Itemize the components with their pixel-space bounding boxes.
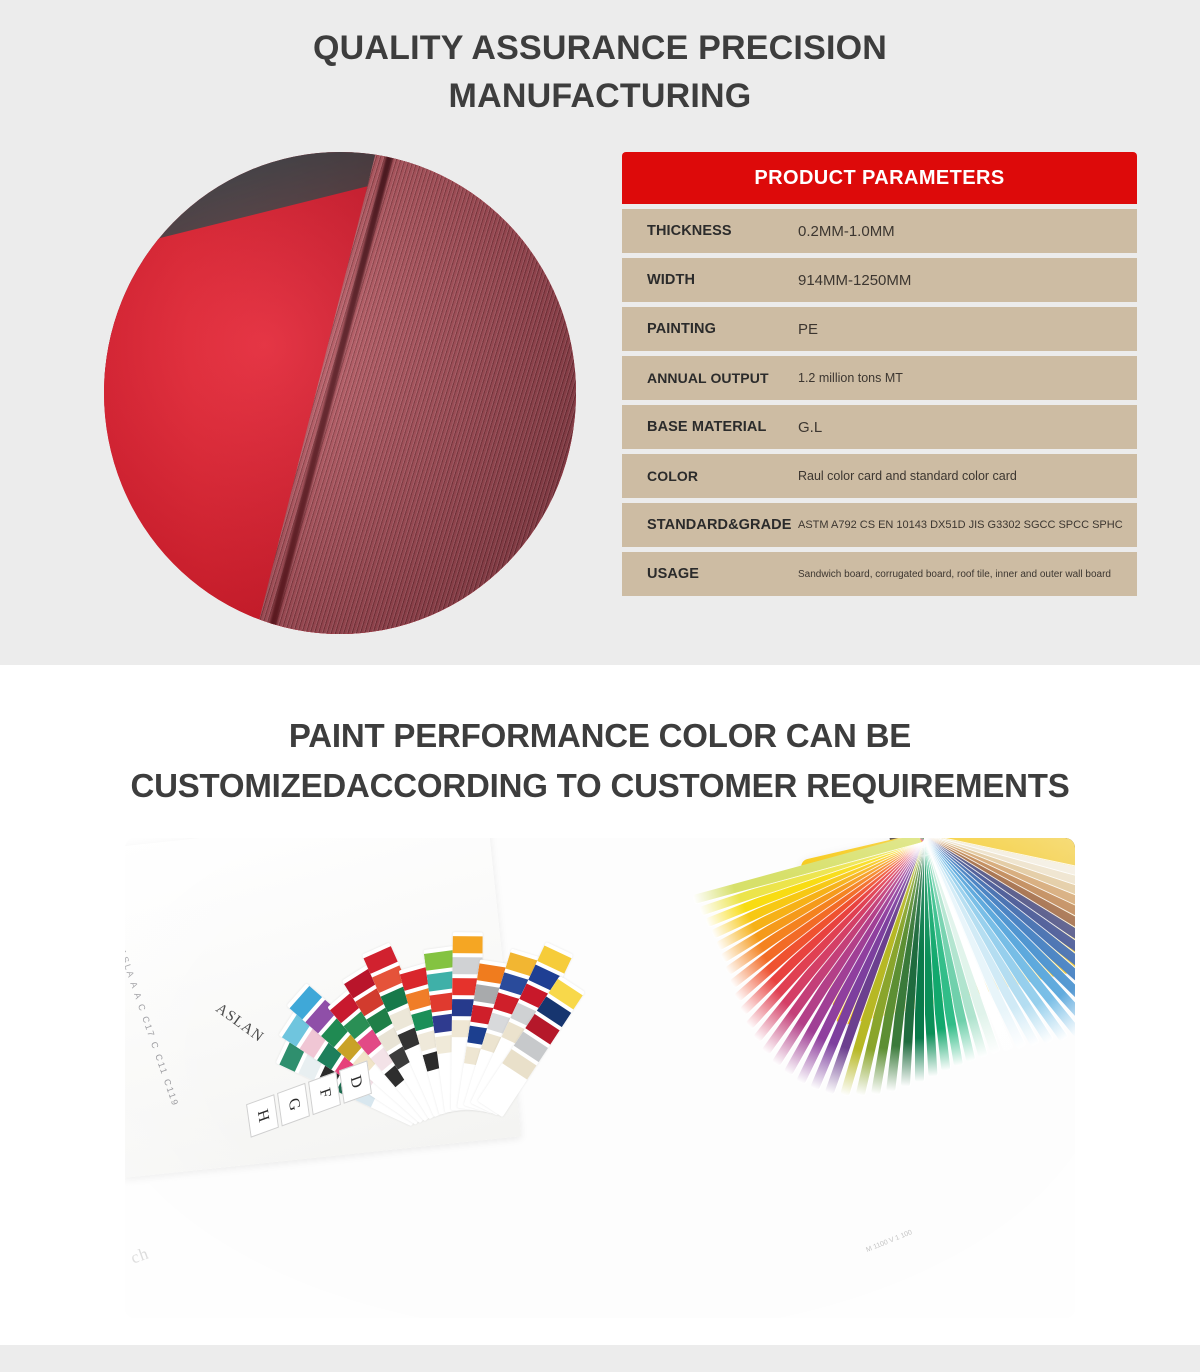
param-key: THICKNESS	[622, 223, 798, 239]
param-value: 1.2 million tons MT	[798, 371, 1137, 385]
table-row: COLOR Raul color card and standard color…	[622, 454, 1137, 498]
table-row: BASE MATERIAL G.L	[622, 405, 1137, 449]
param-key: BASE MATERIAL	[622, 419, 798, 435]
table-row: WIDTH 914MM-1250MM	[622, 258, 1137, 302]
table-row: STANDARD&GRADE ASTM A792 CS EN 10143 DX5…	[622, 503, 1137, 547]
param-value: Sandwich board, corrugated board, roof t…	[798, 569, 1137, 580]
table-row: THICKNESS 0.2MM-1.0MM	[622, 209, 1137, 253]
photo-radial-color-fan	[565, 838, 1075, 1228]
section-title-line-1: PAINT PERFORMANCE COLOR CAN BE	[0, 711, 1200, 761]
paint-performance-section: PAINT PERFORMANCE COLOR CAN BE CUSTOMIZE…	[0, 665, 1200, 1345]
page-title-quality-assurance: QUALITY ASSURANCE PRECISION MANUFACTURIN…	[0, 24, 1200, 121]
photo-micro-text: M 1100 V 1 100	[865, 1227, 915, 1256]
param-value: 0.2MM-1.0MM	[798, 223, 1137, 240]
param-key: USAGE	[622, 566, 798, 582]
page-title-line-2: MANUFACTURING	[0, 72, 1200, 120]
product-parameters-section: QUALITY ASSURANCE PRECISION MANUFACTURIN…	[0, 0, 1200, 665]
product-photo-red-steel-coil	[104, 152, 576, 634]
photo-color-codes-text: ASL A ASL A ASLA A A C C17 C C11 C119	[125, 874, 184, 1110]
photo-lighting-overlay	[104, 152, 576, 634]
param-key: COLOR	[622, 468, 798, 484]
color-card-photo: ASL A ASL A ASLA A A C C17 C C11 C119 AS…	[125, 838, 1075, 1318]
section-title-paint-performance: PAINT PERFORMANCE COLOR CAN BE CUSTOMIZE…	[0, 711, 1200, 810]
table-row: USAGE Sandwich board, corrugated board, …	[622, 552, 1137, 596]
param-value: PE	[798, 321, 1137, 338]
param-key: WIDTH	[622, 272, 798, 288]
table-row: ANNUAL OUTPUT 1.2 million tons MT	[622, 356, 1137, 400]
param-value: ASTM A792 CS EN 10143 DX51D JIS G3302 SG…	[798, 519, 1137, 531]
param-value: G.L	[798, 419, 1137, 436]
params-table-header: PRODUCT PARAMETERS	[622, 152, 1137, 204]
page-title-line-1: QUALITY ASSURANCE PRECISION	[0, 24, 1200, 72]
section-title-line-2: CUSTOMIZEDACCORDING TO CUSTOMER REQUIREM…	[0, 761, 1200, 811]
param-key: STANDARD&GRADE	[622, 517, 798, 533]
product-parameters-table: PRODUCT PARAMETERS THICKNESS 0.2MM-1.0MM…	[622, 152, 1137, 596]
param-key: ANNUAL OUTPUT	[622, 370, 798, 386]
param-value: Raul color card and standard color card	[798, 469, 1137, 483]
table-row: PAINTING PE	[622, 307, 1137, 351]
photo-faint-text: ch	[128, 1244, 152, 1269]
param-value: 914MM-1250MM	[798, 272, 1137, 289]
footer-divider-band	[0, 1345, 1200, 1372]
param-key: PAINTING	[622, 321, 798, 337]
